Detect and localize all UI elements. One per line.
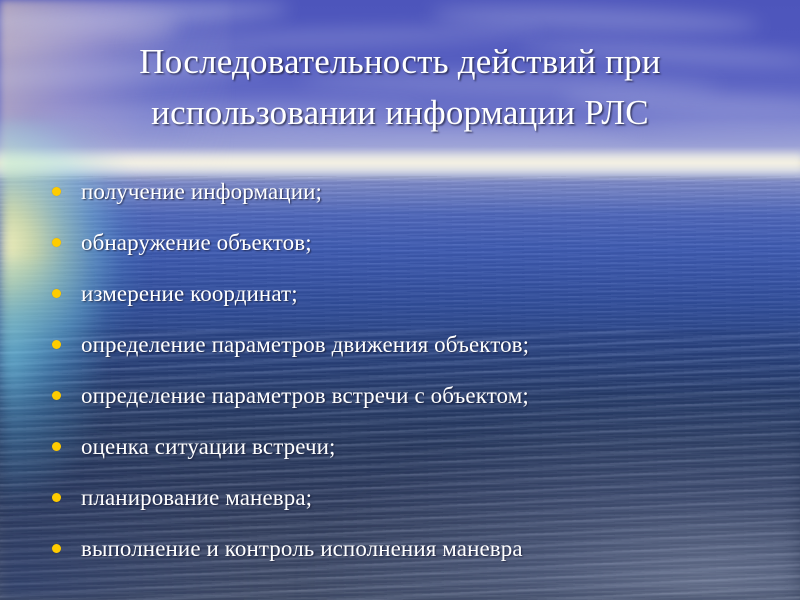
bullet-list: получение информации; обнаружение объект… (52, 176, 782, 584)
list-item-label: получение информации; (81, 176, 322, 207)
bullet-dot-icon (52, 289, 61, 298)
bullet-dot-icon (52, 442, 61, 451)
bullet-dot-icon (52, 340, 61, 349)
list-item[interactable]: оценка ситуации встречи; (52, 431, 782, 482)
slide-title: Последовательность действий при использо… (40, 36, 760, 138)
bullet-dot-icon (52, 493, 61, 502)
list-item[interactable]: определение параметров встречи с объекто… (52, 380, 782, 431)
bullet-dot-icon (52, 238, 61, 247)
list-item-label: определение параметров встречи с объекто… (81, 380, 529, 411)
list-item[interactable]: определение параметров движения объектов… (52, 329, 782, 380)
list-item-label: измерение координат; (81, 278, 298, 309)
list-item-label: определение параметров движения объектов… (81, 329, 529, 360)
list-item[interactable]: выполнение и контроль исполнения маневра (52, 533, 782, 584)
list-item[interactable]: обнаружение объектов; (52, 227, 782, 278)
list-item-label: выполнение и контроль исполнения маневра (81, 533, 523, 564)
slide: Последовательность действий при использо… (0, 0, 800, 600)
list-item[interactable]: получение информации; (52, 176, 782, 227)
bullet-dot-icon (52, 544, 61, 553)
list-item[interactable]: планирование маневра; (52, 482, 782, 533)
list-item-label: обнаружение объектов; (81, 227, 312, 258)
list-item[interactable]: измерение координат; (52, 278, 782, 329)
bullet-dot-icon (52, 391, 61, 400)
list-item-label: оценка ситуации встречи; (81, 431, 336, 462)
bullet-dot-icon (52, 187, 61, 196)
list-item-label: планирование маневра; (81, 482, 312, 513)
